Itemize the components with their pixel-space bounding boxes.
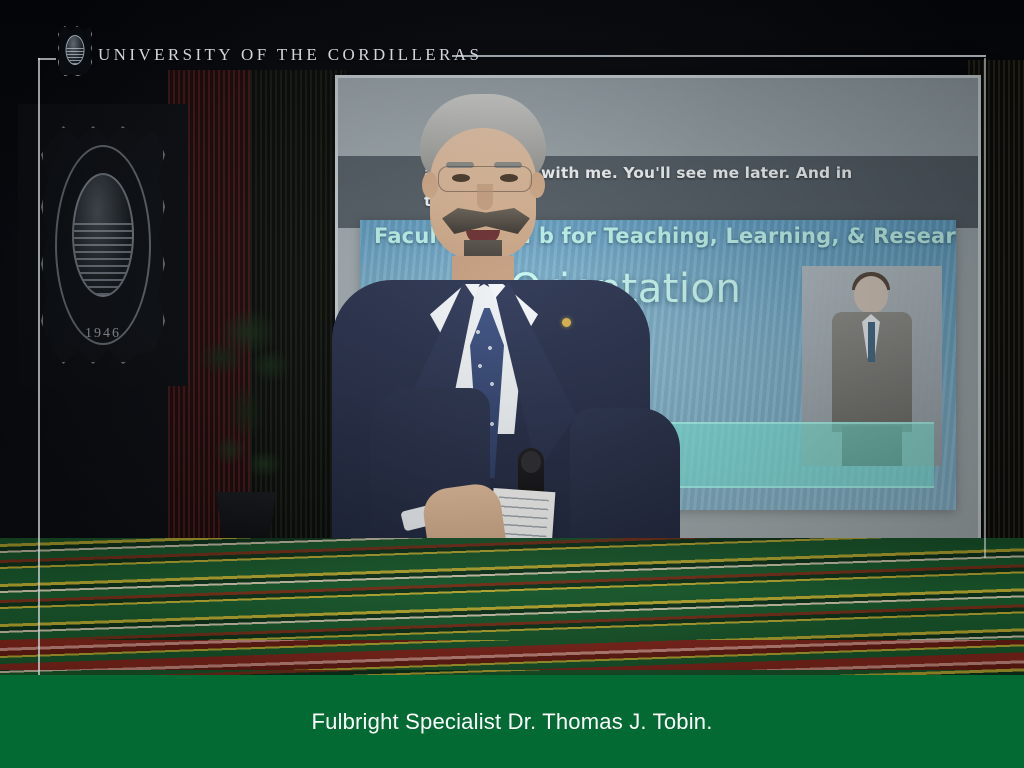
seal-year: 1946 — [41, 326, 165, 342]
brand-header: UNIVERSITY OF THE CORDILLERAS — [0, 0, 1024, 110]
uc-seal-icon: UNIVERSITY OF THE CORDILLERAS 1946 — [41, 126, 165, 364]
brand-rule — [452, 55, 986, 57]
decorative-frame-corner — [38, 58, 56, 60]
caption-bar: Fulbright Specialist Dr. Thomas J. Tobin… — [0, 675, 1024, 768]
decorative-frame-left — [38, 58, 40, 675]
photo-card: UNIVERSITY OF THE CORDILLERAS 1946 actua… — [0, 0, 1024, 768]
uc-crest-icon — [58, 26, 92, 76]
brand-title: UNIVERSITY OF THE CORDILLERAS — [98, 45, 482, 65]
caption-text: Fulbright Specialist Dr. Thomas J. Tobin… — [311, 709, 712, 735]
uc-seal-banner: UNIVERSITY OF THE CORDILLERAS 1946 — [18, 104, 188, 386]
lapel-pin — [562, 318, 571, 327]
decorative-frame-right — [984, 58, 986, 558]
cloth-shading — [0, 538, 1024, 690]
